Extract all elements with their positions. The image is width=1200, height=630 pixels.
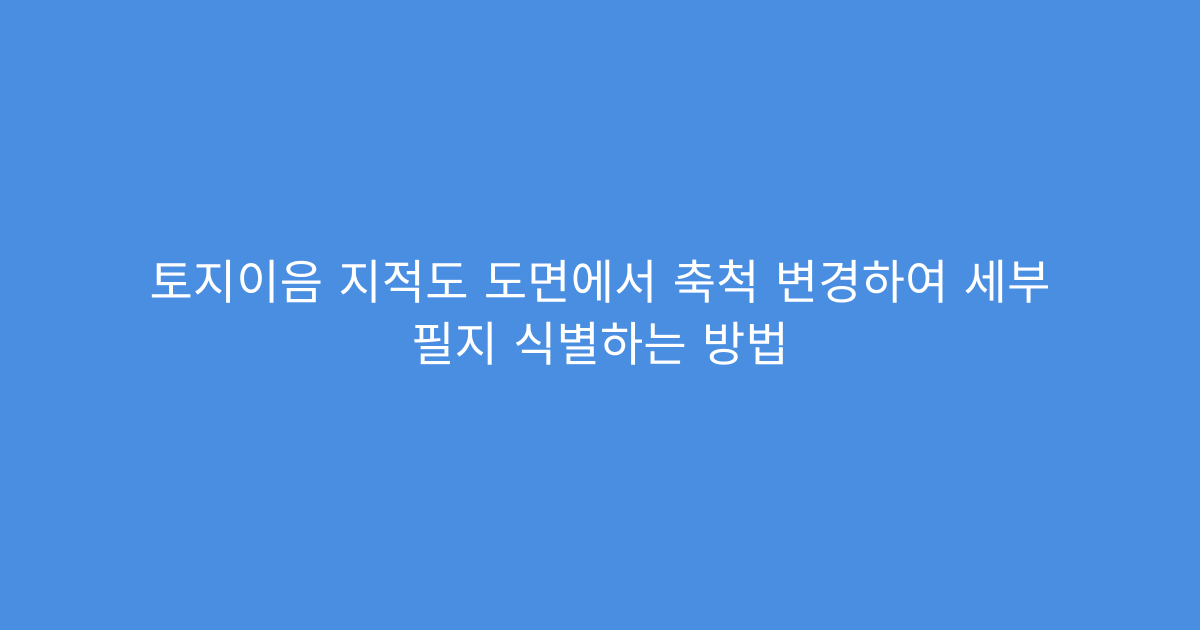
title-block: 토지이음 지적도 도면에서 축척 변경하여 세부 필지 식별하는 방법 <box>95 253 1105 377</box>
share-card: 토지이음 지적도 도면에서 축척 변경하여 세부 필지 식별하는 방법 <box>0 0 1200 630</box>
card-title: 토지이음 지적도 도면에서 축척 변경하여 세부 필지 식별하는 방법 <box>115 253 1085 377</box>
